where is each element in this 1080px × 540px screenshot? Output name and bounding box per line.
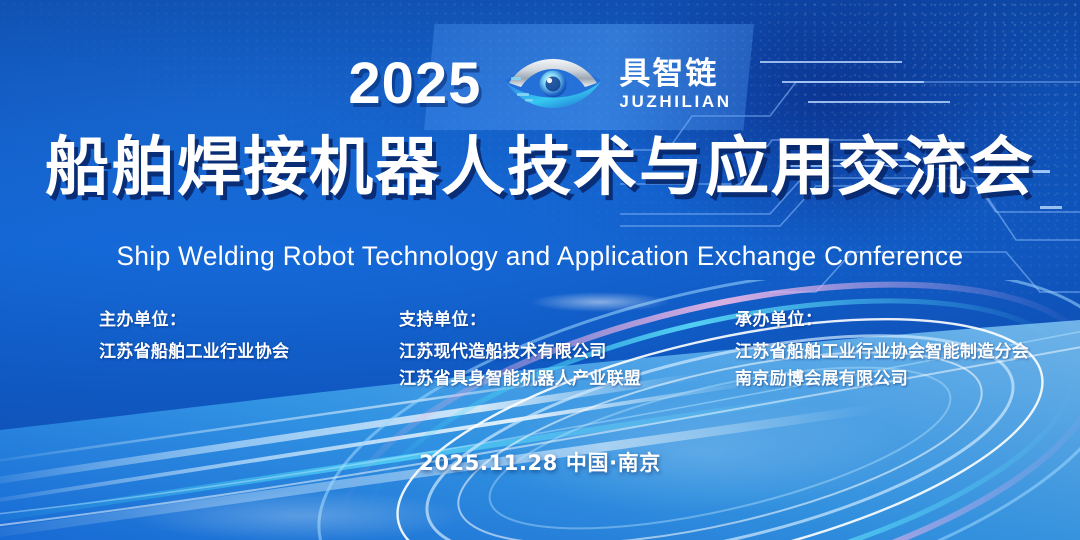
organizer-role-label: 支持单位：: [399, 305, 729, 330]
brand-text: 具智链 JUZHILIAN: [619, 58, 731, 110]
page-title: 船舶焊接机器人技术与应用交流会: [0, 134, 1080, 203]
year-and-brand-row: 2025: [0, 46, 1080, 122]
organizer-entity: 南京励博会展有限公司: [735, 366, 1065, 393]
organizer-entity: 江苏省具身智能机器人产业联盟: [399, 366, 729, 393]
organizer-role-label: 承办单位：: [735, 305, 1065, 330]
date-location-label: 2025.11.28 中国·南京: [0, 447, 1080, 477]
page-subtitle: Ship Welding Robot Technology and Applic…: [16, 241, 1064, 272]
year-label: 2025: [348, 55, 481, 113]
poster-content: 2025: [0, 0, 1080, 540]
organizer-entity: 江苏省船舶工业行业协会: [99, 339, 399, 366]
organizer-column-support: 支持单位： 江苏现代造船技术有限公司 江苏省具身智能机器人产业联盟: [399, 305, 729, 392]
organizer-entity: 江苏现代造船技术有限公司: [399, 339, 729, 366]
conference-poster: 2025: [0, 0, 1080, 540]
organizers-row: 主办单位： 江苏省船舶工业行业协会 支持单位： 江苏现代造船技术有限公司 江苏省…: [0, 305, 1080, 392]
organizer-entity: 江苏省船舶工业行业协会智能制造分会: [735, 339, 1065, 366]
brand-lockup: 具智链 JUZHILIAN: [499, 53, 731, 115]
brand-name-en: JUZHILIAN: [619, 93, 731, 110]
eye-lens-logo-icon: [499, 53, 607, 115]
brand-name-cn: 具智链: [619, 58, 718, 89]
organizer-column-host: 主办单位： 江苏省船舶工业行业协会: [15, 305, 399, 392]
organizer-role-label: 主办单位：: [99, 305, 399, 330]
organizer-column-organizer: 承办单位： 江苏省船舶工业行业协会智能制造分会 南京励博会展有限公司: [729, 305, 1065, 392]
